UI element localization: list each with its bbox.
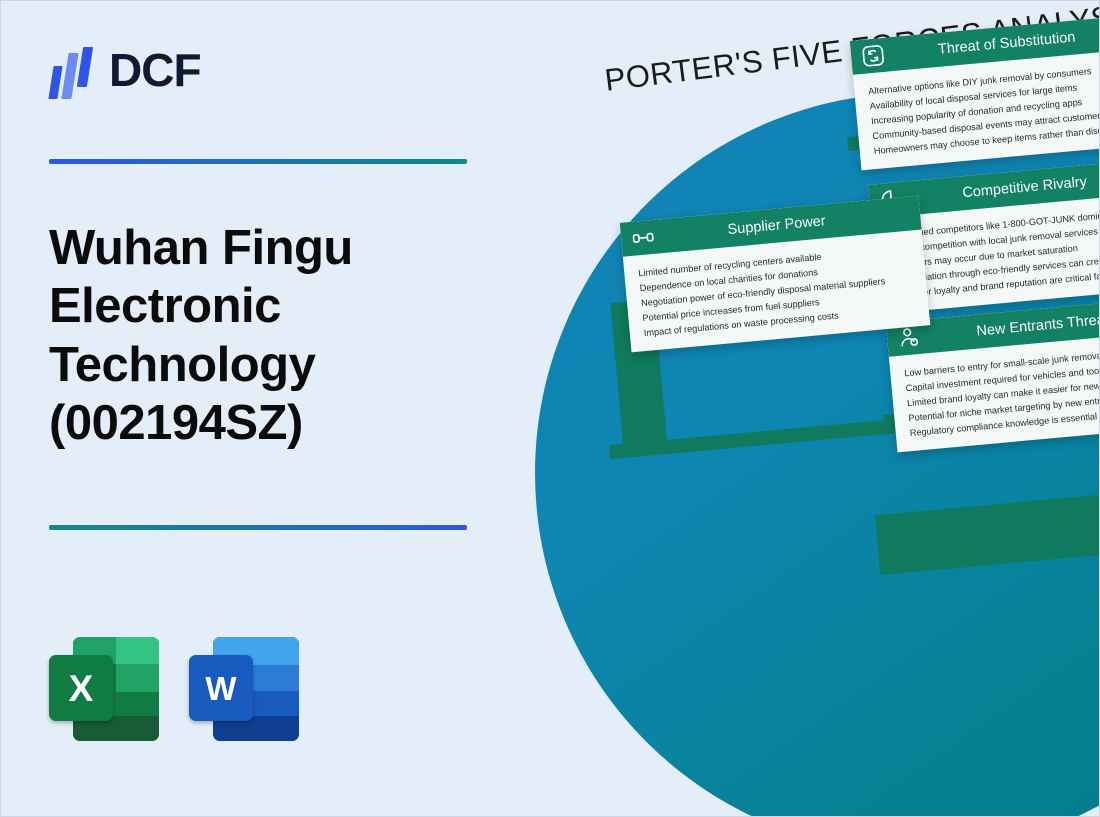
divider-top [49, 159, 467, 164]
word-letter: W [189, 655, 253, 721]
force-card-threat-of-substitution[interactable]: Threat of Substitution Alternative optio… [850, 14, 1100, 170]
page-title: Wuhan Fingu Electronic Technology (00219… [49, 219, 479, 452]
slide-canvas: DCF Wuhan Fingu Electronic Technology (0… [0, 0, 1100, 817]
word-file-icon[interactable]: W [189, 629, 299, 747]
force-card-supplier-power[interactable]: Supplier Power Limited number of recycli… [620, 196, 931, 352]
dcf-bars-logo-icon [49, 41, 95, 99]
link-icon [630, 225, 656, 251]
divider-bottom [49, 525, 467, 530]
file-format-icons: X W [49, 629, 299, 747]
user-add-icon [896, 325, 922, 351]
analysis-panel: PORTER'S FIVE FORCES ANALYSIS Threat of … [521, 1, 1100, 817]
refresh-icon [860, 43, 886, 69]
brand-name: DCF [109, 47, 201, 93]
left-panel: DCF Wuhan Fingu Electronic Technology (0… [1, 1, 521, 817]
brand-logo: DCF [49, 41, 201, 99]
excel-letter: X [49, 655, 113, 721]
excel-file-icon[interactable]: X [49, 629, 159, 747]
